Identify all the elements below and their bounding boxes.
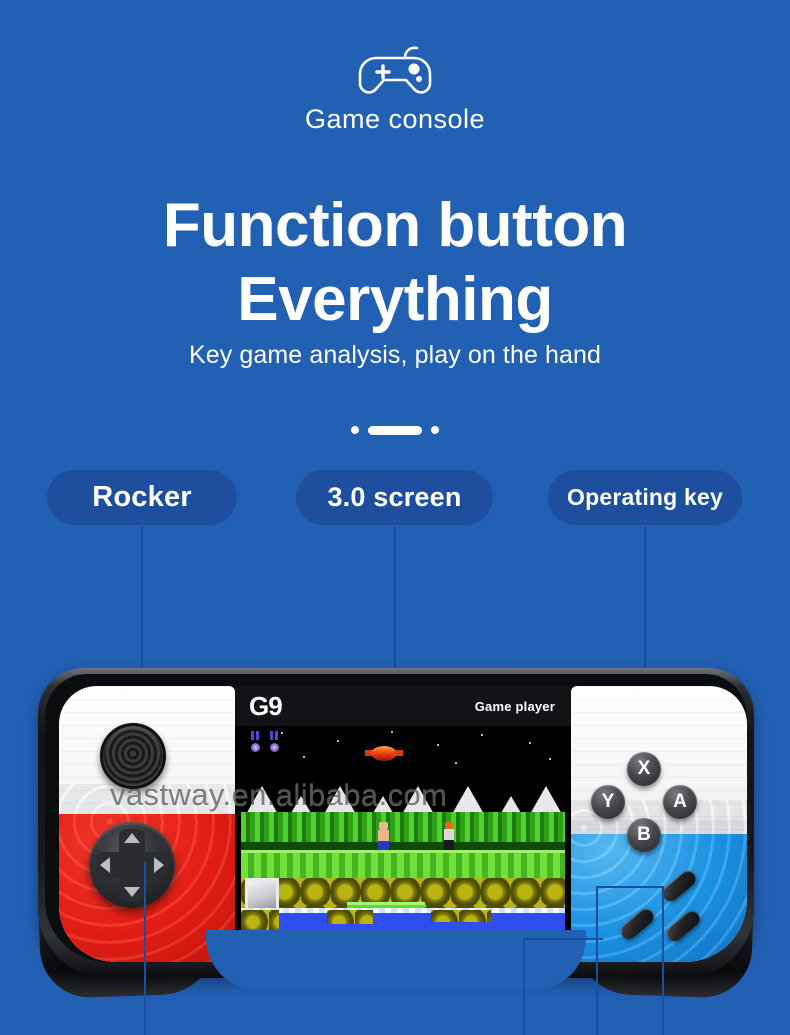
star <box>481 734 483 736</box>
screen-bezel-top: G9 Game player <box>235 686 571 726</box>
dpad-up-arrow-icon[interactable] <box>124 833 140 843</box>
button-x[interactable]: X <box>627 752 661 786</box>
headline-line-1: Function button <box>0 189 790 263</box>
star <box>529 742 531 744</box>
ufo-fin-right <box>395 750 403 756</box>
star <box>549 758 551 760</box>
lcd-screen <box>241 726 565 934</box>
promo-page: Game console Function button Everything … <box>0 0 790 1035</box>
star <box>281 732 283 734</box>
leader-line-dpad <box>144 862 146 1035</box>
callout-label-screen: 3.0 screen <box>327 482 461 513</box>
star <box>337 740 339 742</box>
callout-label-operating-key: Operating key <box>567 484 723 511</box>
star <box>391 731 393 733</box>
player-torso <box>378 830 389 841</box>
leader-line-function-3-branch <box>523 938 603 940</box>
section-divider <box>0 421 790 439</box>
gamepad-icon <box>349 42 441 104</box>
button-b[interactable]: B <box>627 818 661 852</box>
rock-column <box>431 910 491 922</box>
hud-life-icon <box>251 731 260 753</box>
star <box>437 744 439 746</box>
headline-line-2: Everything <box>0 263 790 337</box>
ufo-body <box>371 746 397 761</box>
lcd-frame: Enjoy the Game <box>235 726 571 962</box>
brand-mark <box>0 42 790 109</box>
page-subheadline: Key game analysis, play on the hand <box>0 341 790 370</box>
leader-line-function-3 <box>523 938 525 1035</box>
enemy-torso <box>444 829 454 840</box>
device-type-label: Game player <box>475 699 555 714</box>
divider-dot-left <box>351 426 359 434</box>
leader-line-function-1 <box>596 886 598 1035</box>
enemy-head <box>445 822 453 829</box>
callout-pill-rocker[interactable]: Rocker <box>47 470 237 525</box>
callout-pill-screen[interactable]: 3.0 screen <box>296 470 493 525</box>
analog-stick-rocker[interactable] <box>100 723 166 789</box>
dpad-left-arrow-icon[interactable] <box>100 857 110 873</box>
dpad-down-arrow-icon[interactable] <box>124 887 140 897</box>
water-foam-edge <box>241 908 565 913</box>
page-headline: Function button Everything <box>0 189 790 337</box>
directional-pad[interactable] <box>89 822 175 908</box>
leader-line-screen <box>394 526 396 681</box>
star <box>455 762 457 764</box>
callout-pill-operating-key[interactable]: Operating key <box>548 470 742 525</box>
button-a[interactable]: A <box>663 785 697 819</box>
device-model-label: G9 <box>249 691 282 722</box>
star <box>303 756 305 758</box>
brand-title: Game console <box>0 104 790 135</box>
hud-life-icon <box>270 731 279 753</box>
player-head <box>379 822 388 830</box>
divider-dot-right <box>431 426 439 434</box>
button-y[interactable]: Y <box>591 785 625 819</box>
callout-label-rocker: Rocker <box>92 481 192 514</box>
jungle-treeline <box>241 812 565 852</box>
leader-line-function-2 <box>662 886 664 1035</box>
dpad-right-arrow-icon[interactable] <box>154 857 164 873</box>
rock-column <box>327 910 373 924</box>
leader-line-function-1-branch <box>596 886 662 888</box>
ufo-sprite <box>365 745 403 762</box>
divider-bar <box>368 426 422 435</box>
